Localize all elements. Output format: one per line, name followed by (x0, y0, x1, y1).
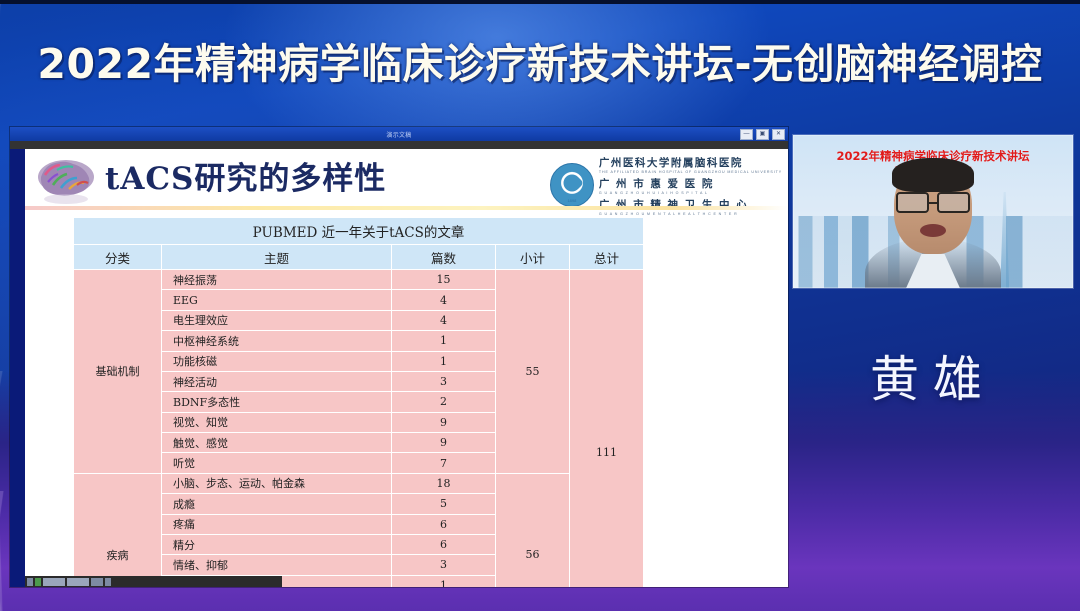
presentation-slide: tACS研究的多样性 1898 广州医科大学附属脑科医院 THE AFFILIA… (10, 149, 788, 587)
topic-cell: 中枢神经系统 (162, 331, 392, 351)
subtotal-cell: 55 (496, 270, 570, 474)
table-header-row: 分类主题篇数小计总计 (74, 245, 644, 270)
hospital-logo-year: 1898 (567, 198, 576, 203)
os-taskbar[interactable] (25, 576, 282, 587)
hospital-line-cn: 广州医科大学附属脑科医院 (599, 157, 743, 169)
video-border (793, 135, 1073, 288)
column-header-1: 主题 (162, 245, 392, 270)
count-cell: 6 (392, 534, 496, 554)
group-name: 疾病 (74, 473, 162, 587)
hospital-line: 广 州 市 惠 爱 医 院 G U A N G Z H O U H U I A … (599, 174, 782, 195)
window-title-text: 演示文稿 (386, 130, 411, 139)
table-caption: PUBMED 近一年关于tACS的文章 (74, 218, 644, 245)
column-header-4: 总计 (570, 245, 644, 270)
count-cell: 2 (392, 392, 496, 412)
title-divider (25, 206, 788, 210)
count-cell: 4 (392, 310, 496, 330)
topic-cell: 视觉、知觉 (162, 412, 392, 432)
slide-title: tACS研究的多样性 (105, 153, 386, 198)
taskbar-item[interactable] (67, 578, 89, 586)
topic-cell: 电生理效应 (162, 310, 392, 330)
topic-cell: BDNF多态性 (162, 392, 392, 412)
topic-cell: 神经振荡 (162, 270, 392, 290)
hospital-line-cn: 广 州 市 惠 爱 医 院 (599, 178, 714, 190)
table-caption-row: PUBMED 近一年关于tACS的文章 (74, 218, 644, 245)
speaker-name: 黄雄 (793, 340, 1073, 411)
column-header-0: 分类 (74, 245, 162, 270)
page-header: 2022年精神病学临床诊疗新技术讲坛-无创脑神经调控 (0, 0, 1080, 120)
count-cell: 1 (392, 575, 496, 587)
taskbar-item[interactable] (91, 578, 103, 586)
topic-cell: 听觉 (162, 453, 392, 473)
table-row: 疾病小脑、步态、运动、帕金森1856 (74, 473, 644, 493)
column-header-3: 小计 (496, 245, 570, 270)
group-name: 基础机制 (74, 270, 162, 474)
count-cell: 3 (392, 371, 496, 391)
topic-cell: 神经活动 (162, 371, 392, 391)
taskbar-start-icon[interactable] (27, 578, 33, 586)
topic-cell: EEG (162, 290, 392, 310)
pubmed-table: PUBMED 近一年关于tACS的文章分类主题篇数小计总计基础机制神经振荡155… (73, 217, 644, 587)
hospital-logo-icon: 1898 (550, 163, 594, 207)
taskbar-item[interactable] (105, 578, 111, 586)
topic-cell: 触觉、感觉 (162, 433, 392, 453)
taskbar-icon[interactable] (35, 578, 41, 586)
count-cell: 9 (392, 433, 496, 453)
count-cell: 18 (392, 473, 496, 493)
total-cell: 111 (570, 270, 644, 588)
topic-cell: 小脑、步态、运动、帕金森 (162, 473, 392, 493)
count-cell: 4 (392, 290, 496, 310)
topic-cell: 疼痛 (162, 514, 392, 534)
page-title: 2022年精神病学临床诊疗新技术讲坛-无创脑神经调控 (37, 30, 1042, 90)
close-button[interactable]: ✕ (772, 129, 785, 140)
column-header-2: 篇数 (392, 245, 496, 270)
window-titlebar[interactable]: 演示文稿 — ▣ ✕ (10, 127, 788, 141)
minimize-button[interactable]: — (740, 129, 753, 140)
pubmed-table-body: PUBMED 近一年关于tACS的文章分类主题篇数小计总计基础机制神经振荡155… (74, 218, 644, 588)
subtotal-cell: 56 (496, 473, 570, 587)
count-cell: 9 (392, 412, 496, 432)
window-controls[interactable]: — ▣ ✕ (740, 129, 785, 140)
topic-cell: 情绪、抑郁 (162, 555, 392, 575)
slide-header: tACS研究的多样性 1898 广州医科大学附属脑科医院 THE AFFILIA… (25, 149, 788, 211)
brain-icon (33, 155, 99, 205)
count-cell: 7 (392, 453, 496, 473)
count-cell: 5 (392, 494, 496, 514)
table-row: 基础机制神经振荡1555111 (74, 270, 644, 290)
speaker-video-tile[interactable]: 2022年精神病学临床诊疗新技术讲坛 无创脑神经调控 2022年6月 :00 (793, 135, 1073, 288)
window-toolbar-strip (10, 141, 788, 149)
webinar-screen: 2022年精神病学临床诊疗新技术讲坛-无创脑神经调控 演示文稿 — ▣ ✕ (0, 0, 1080, 611)
restore-button[interactable]: ▣ (756, 129, 769, 140)
hospital-line: 广州医科大学附属脑科医院 THE AFFILIATED BRAIN HOSPIT… (599, 153, 782, 174)
pubmed-table-wrapper: PUBMED 近一年关于tACS的文章分类主题篇数小计总计基础机制神经振荡155… (73, 217, 643, 587)
topic-cell: 功能核磁 (162, 351, 392, 371)
taskbar-item[interactable] (43, 578, 65, 586)
shared-screen-window[interactable]: 演示文稿 — ▣ ✕ (10, 127, 788, 587)
count-cell: 3 (392, 555, 496, 575)
hospital-line-en: G U A N G Z H O U M E N T A L H E A L T … (599, 212, 782, 216)
count-cell: 15 (392, 270, 496, 290)
count-cell: 6 (392, 514, 496, 534)
topic-cell: 精分 (162, 534, 392, 554)
count-cell: 1 (392, 351, 496, 371)
count-cell: 1 (392, 331, 496, 351)
topic-cell: 成瘾 (162, 494, 392, 514)
